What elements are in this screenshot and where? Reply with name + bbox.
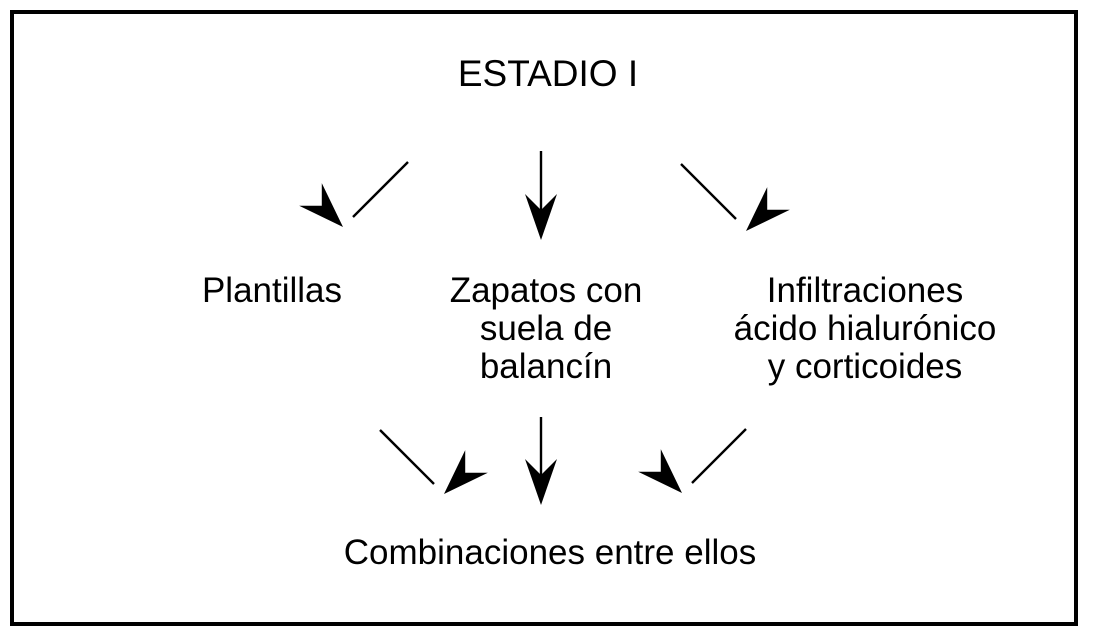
arrow-left-to-result [380,430,488,505]
connector-arrow-layer [0,0,1096,640]
diagram-canvas: ESTADIO I Plantillas Zapatos con suela d… [0,0,1096,640]
arrow-root-to-left [299,162,408,238]
arrow-right-to-result [638,429,746,504]
arrow-root-to-center [525,151,557,240]
arrow-center-to-result [525,417,557,505]
arrow-root-to-right [681,164,790,242]
